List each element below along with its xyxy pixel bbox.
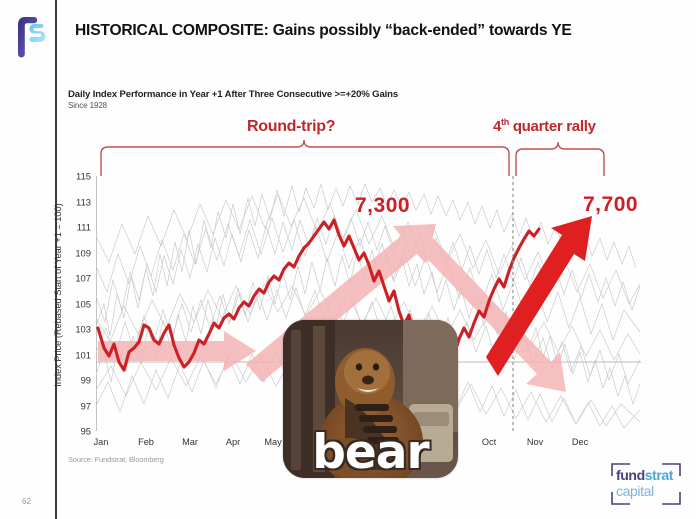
callout-value-7300: 7,300 [355, 194, 410, 218]
y-tick-103: 103 [75, 324, 91, 335]
annotation-brackets [0, 130, 696, 178]
y-tick-111: 111 [77, 222, 91, 233]
y-tick-101: 101 [75, 349, 91, 360]
q4-ordinal-suffix: th [501, 117, 509, 127]
q4-suffix: quarter rally [509, 118, 596, 135]
annotation-q4-rally: 4th quarter rally [493, 117, 596, 135]
slide-canvas: HISTORICAL COMPOSITE: Gains possibly “ba… [0, 0, 696, 519]
x-tick-mar: Mar [182, 437, 198, 447]
y-tick-95: 95 [81, 426, 91, 437]
x-tick-jan: Jan [94, 437, 109, 447]
chart-title: Daily Index Performance in Year +1 After… [68, 89, 398, 100]
y-axis-title: Index Price (Rebased Start of Year +1 = … [53, 185, 63, 405]
chart-source-note: Source: Fundstrat, Bloomberg [68, 455, 164, 464]
logo-word-fund: fund [616, 467, 645, 483]
x-tick-nov: Nov [527, 437, 543, 447]
fs-monogram-icon [14, 12, 48, 60]
y-tick-99: 99 [81, 375, 91, 386]
y-tick-115: 115 [76, 171, 91, 182]
logo-word-strat: strat [645, 467, 673, 483]
q4-prefix: 4 [493, 118, 501, 135]
meme-caption: bear [283, 431, 458, 476]
y-tick-105: 105 [75, 298, 91, 309]
page-number: 62 [22, 497, 31, 506]
page-title: HISTORICAL COMPOSITE: Gains possibly “ba… [75, 22, 675, 40]
y-tick-113: 113 [76, 196, 91, 207]
logo-wordmark-line1: fundstrat [616, 467, 673, 483]
fundstrat-capital-logo: fundstrat capital [608, 462, 684, 506]
y-tick-109: 109 [75, 247, 91, 258]
chart-subtitle: Since 1928 [68, 101, 107, 110]
x-tick-may: May [264, 437, 281, 447]
logo-wordmark-line2: capital [616, 483, 654, 499]
y-tick-97: 97 [81, 400, 91, 411]
callout-value-7700: 7,700 [583, 193, 638, 217]
x-tick-apr: Apr [226, 437, 240, 447]
y-tick-107: 107 [75, 273, 91, 284]
bear-meme-image: bear [283, 320, 458, 478]
x-tick-oct: Oct [482, 437, 496, 447]
x-tick-feb: Feb [138, 437, 154, 447]
annotation-round-trip: Round-trip? [247, 118, 335, 136]
x-tick-dec: Dec [572, 437, 588, 447]
